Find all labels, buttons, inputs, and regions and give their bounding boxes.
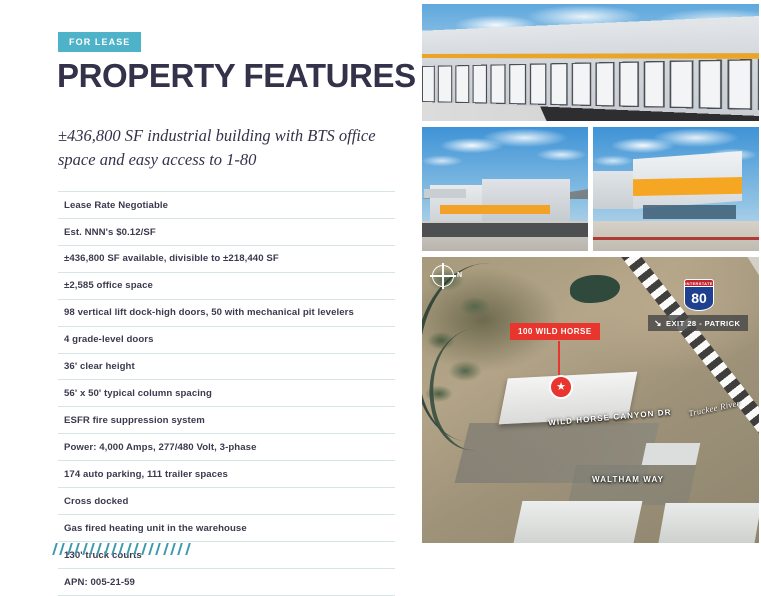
footer-tick-decoration [54,543,189,555]
orange-accent-band [440,205,550,214]
tick-mark [170,543,176,555]
property-callout-label: 100 WILD HORSE [510,323,600,340]
shield-route-number: 80 [684,286,714,311]
neighbor-building-north [642,443,701,465]
list-item: Cross docked [58,488,395,515]
content-column: FOR LEASE PROPERTY FEATURES ±436,800 SF … [0,0,420,588]
secondary-paved-area [568,465,697,505]
interstate-80-shield-icon: INTERSTATE 80 [684,279,714,311]
property-subtitle: ±436,800 SF industrial building with BTS… [58,124,388,172]
photo-warehouse-dock-elevation [422,4,759,121]
neighbor-building-south [514,501,643,543]
list-item: 4 grade-level doors [58,327,395,354]
tick-mark [74,543,80,555]
tick-mark [67,543,73,555]
neighbor-building-southeast [658,503,759,543]
dock-door-row [422,57,759,109]
retention-pond [570,275,620,303]
entry-canopy [424,189,466,198]
tick-mark [89,543,95,555]
tick-mark [133,543,139,555]
tick-mark [111,543,117,555]
list-item: 98 vertical lift dock-high doors, 50 wit… [58,300,395,327]
list-item: Est. NNN's $0.12/SF [58,219,395,246]
tick-mark [178,543,184,555]
building-wing [593,171,639,209]
list-item: 174 auto parking, 111 trailer spaces [58,461,395,488]
landscaped-ground [593,221,759,251]
exit-arrow-icon: ↘ [654,319,662,328]
exit-label-text: EXIT 28 - PATRICK [666,320,740,328]
list-item: APN: 005-21-59 [58,569,395,596]
road-label-waltham-way: WALTHAM WAY [592,475,664,484]
tick-mark [141,543,147,555]
tick-mark [148,543,154,555]
tick-mark [82,543,88,555]
list-item: ±2,585 office space [58,273,395,300]
property-marker-star-icon: ★ [549,375,573,399]
list-item: 56' x 50' typical column spacing [58,380,395,407]
list-item: Power: 4,000 Amps, 277/480 Volt, 3-phase [58,434,395,461]
media-column: N 100 WILD HORSE ★ INTERSTATE 80 ↘ EXIT … [420,0,761,588]
tick-mark [60,543,66,555]
tick-mark [163,543,169,555]
compass-rose-icon: N [430,263,456,289]
list-item: Gas fired heating unit in the warehouse [58,515,395,542]
tick-mark [96,543,102,555]
tick-mark [52,543,58,555]
tick-mark [155,543,161,555]
page-title: PROPERTY FEATURES [57,58,416,94]
property-features-page: FOR LEASE PROPERTY FEATURES ±436,800 SF … [0,0,761,588]
compass-north-label: N [457,272,462,279]
tick-mark [126,543,132,555]
exit-callout-label: ↘ EXIT 28 - PATRICK [648,315,748,331]
for-lease-badge: FOR LEASE [58,32,141,52]
tick-mark [119,543,125,555]
list-item: ESFR fire suppression system [58,407,395,434]
storefront-glazing [643,205,736,219]
building-mass-right [482,179,570,221]
red-painted-curb [593,237,759,240]
water-label-truckee-river: Truckee River [688,398,742,419]
parking-lot [422,223,588,237]
list-item: ±436,800 SF available, divisible to ±218… [58,246,395,273]
photo-building-entrance-exterior [422,127,588,251]
orange-accent-band [633,177,743,196]
list-item: Lease Rate Negotiable [58,192,395,219]
feature-list: Lease Rate Negotiable Est. NNN's $0.12/S… [58,191,395,596]
aerial-site-map: N 100 WILD HORSE ★ INTERSTATE 80 ↘ EXIT … [422,257,759,543]
photo-pair [422,127,759,251]
photo-building-corner-orange-band [593,127,759,251]
tick-mark [104,543,110,555]
list-item: 36' clear height [58,354,395,381]
